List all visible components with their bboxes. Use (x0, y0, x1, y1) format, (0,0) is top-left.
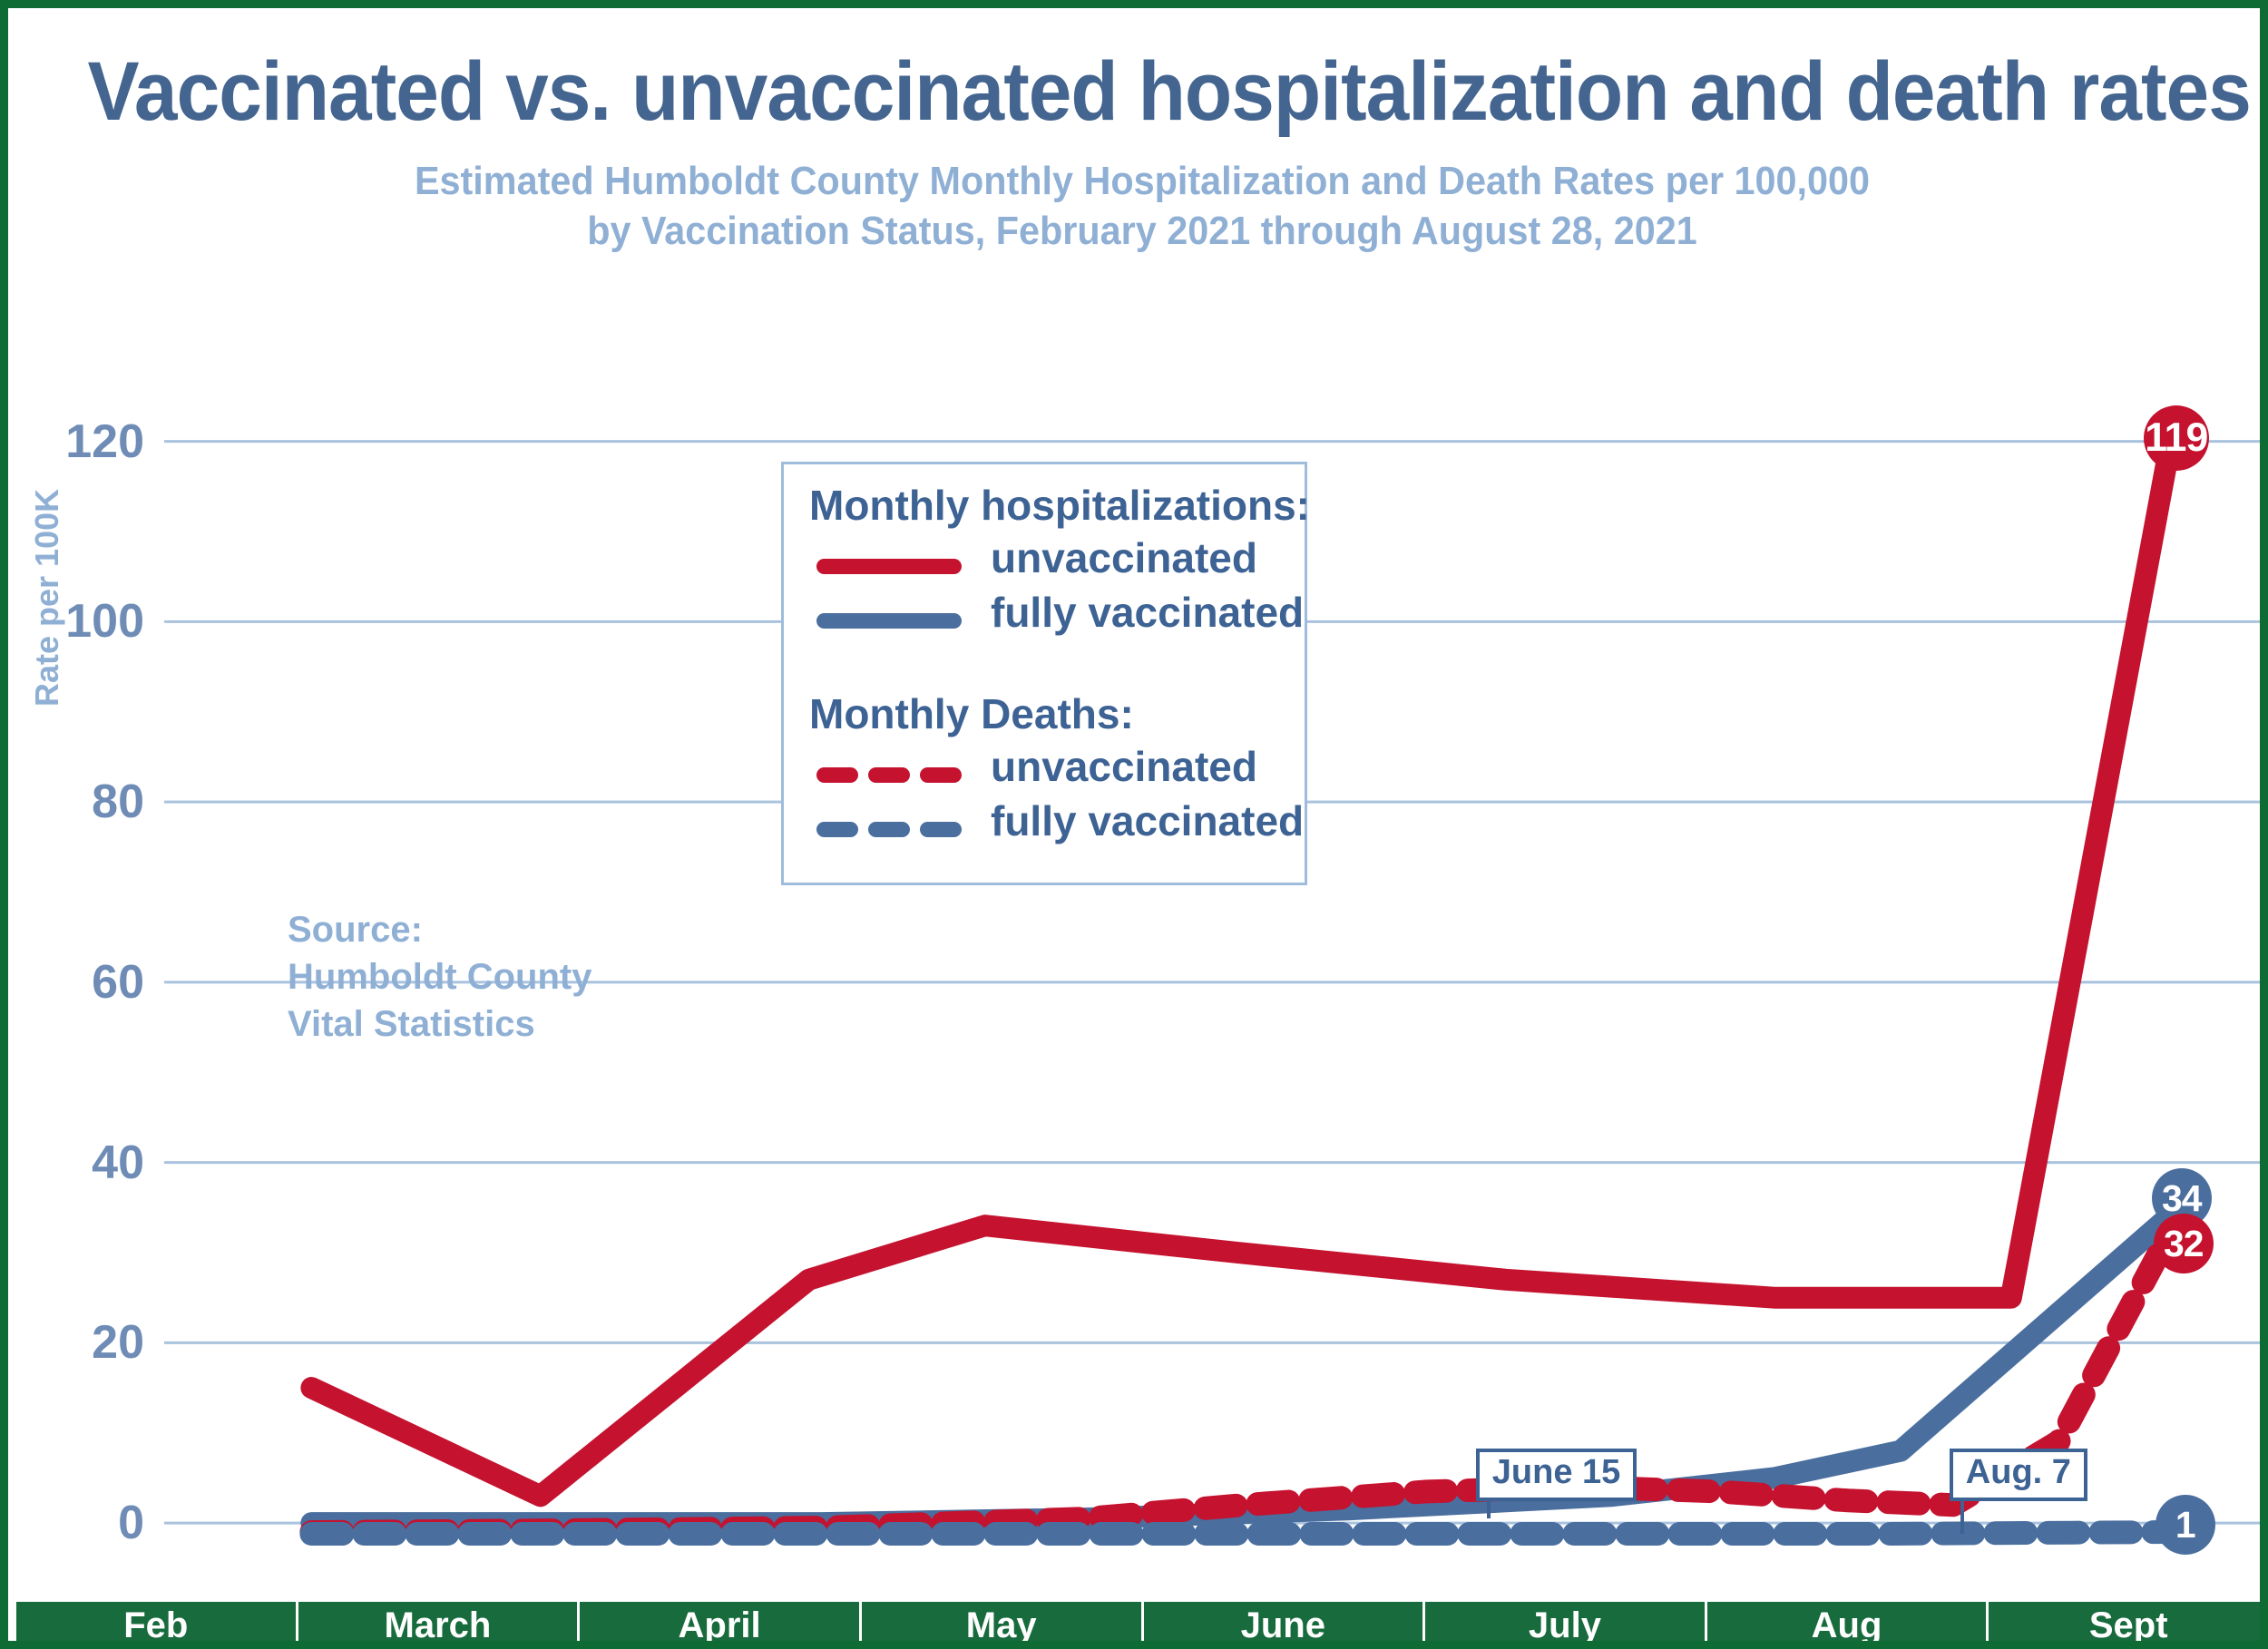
annotation-leader-line (1960, 1501, 1964, 1534)
legend-swatch-hosp-unvaccinated (816, 559, 962, 574)
source-line-3: Vital Statistics (288, 1000, 592, 1048)
value-badge-32: 32 (2154, 1214, 2214, 1273)
source-note: Source: Humboldt County Vital Statistics (288, 906, 592, 1048)
month-label-sept: Sept (1989, 1602, 2268, 1649)
legend-swatch-hosp-fully-vaccinated (816, 613, 962, 629)
source-line-2: Humboldt County (288, 953, 592, 1000)
month-label-may: May (862, 1602, 1144, 1649)
annotation-leader-line (1487, 1501, 1491, 1518)
value-badge-119: 119 (2144, 405, 2209, 471)
legend-swatch-death-fully-vaccinated (816, 822, 962, 837)
month-label-june: June (1144, 1602, 1426, 1649)
legend-heading-deaths: Monthly Deaths: (809, 689, 1134, 738)
legend-label-death-fully-vaccinated: fully vaccinated (991, 796, 1304, 845)
month-label-aug: Aug (1707, 1602, 1989, 1649)
month-label-april: April (580, 1602, 862, 1649)
month-label-feb: Feb (16, 1602, 298, 1649)
value-badge-1: 1 (2156, 1495, 2215, 1555)
legend-swatch-death-unvaccinated (816, 767, 962, 783)
series-line-3 (311, 1532, 2168, 1534)
legend-label-hosp-unvaccinated: unvaccinated (991, 533, 1257, 582)
legend-label-hosp-fully-vaccinated: fully vaccinated (991, 588, 1304, 637)
annotation-callout-june-15: June 15 (1476, 1449, 1637, 1501)
chart-page: Vaccinated vs. unvaccinated hospitalizat… (0, 0, 2268, 1649)
x-axis-month-strip: FebMarchAprilMayJuneJulyAugSept (16, 1602, 2268, 1649)
legend: Monthly hospitalizations: unvaccinated f… (781, 462, 1307, 885)
source-line-1: Source: (288, 906, 592, 953)
series-line-2 (311, 1234, 2168, 1532)
legend-heading-hospitalizations: Monthly hospitalizations: (809, 481, 1310, 530)
annotation-callout-aug-7: Aug. 7 (1950, 1449, 2087, 1501)
month-label-july: July (1425, 1602, 1707, 1649)
month-label-march: March (298, 1602, 581, 1649)
legend-label-death-unvaccinated: unvaccinated (991, 742, 1257, 791)
